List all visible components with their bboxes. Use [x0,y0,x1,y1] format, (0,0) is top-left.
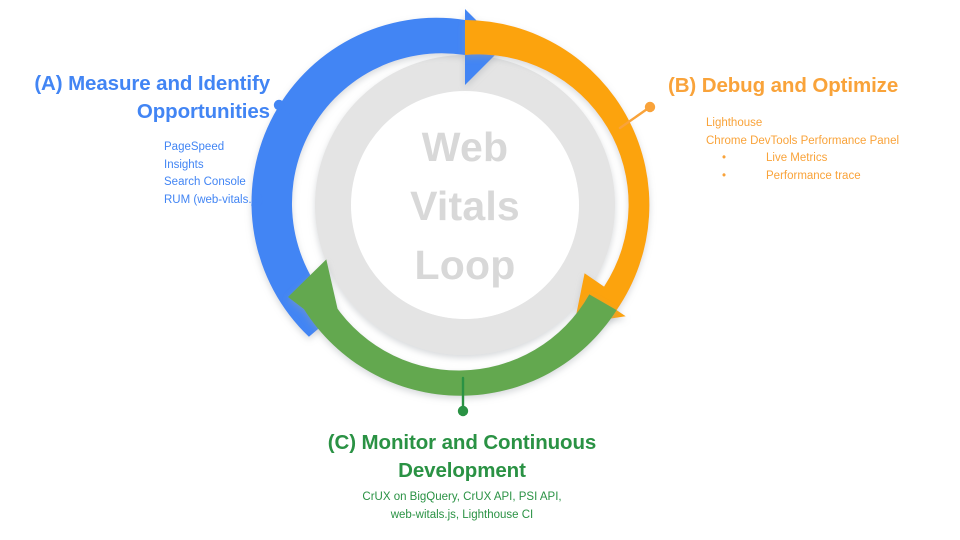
stage-b-items: Lighthouse Chrome DevTools Performance P… [706,115,956,185]
center-label-line1: Web [355,118,575,177]
stage-b-heading: (B) Debug and Optimize [668,72,948,100]
stage-a-item: PageSpeed Insights [164,139,266,174]
stage-a-heading: (A) Measure and Identify Opportunities [18,70,270,126]
stage-b-item: Lighthouse [706,115,956,133]
center-label-line3: Loop [355,236,575,295]
stage-c-heading: (C) Monitor and Continuous Development [282,429,642,485]
bullet-icon: • [722,150,766,168]
stage-b-bullet-row: •Live Metrics [706,150,956,168]
stage-b-bullet-row: •Performance trace [706,168,956,186]
stage-b-bullet: Performance trace [766,170,861,182]
diagram-canvas: Web Vitals Loop (A) Measure and Identify… [0,0,960,540]
stage-a-item: Search Console [164,174,266,192]
stage-c-item: web-witals.js, Lighthouse CI [282,507,642,525]
stage-a-items: PageSpeed Insights Search Console RUM (w… [18,139,266,209]
center-label: Web Vitals Loop [355,118,575,295]
stage-c-item: CrUX on BigQuery, CrUX API, PSI API, [282,489,642,507]
center-label-line2: Vitals [355,177,575,236]
bullet-icon: • [722,168,766,186]
stage-c-items: CrUX on BigQuery, CrUX API, PSI API, web… [282,489,642,524]
stage-a-item: RUM (web-vitals.js) [164,192,266,210]
stage-b-bullet: Live Metrics [766,152,827,164]
stage-b-item: Chrome DevTools Performance Panel [706,133,956,151]
